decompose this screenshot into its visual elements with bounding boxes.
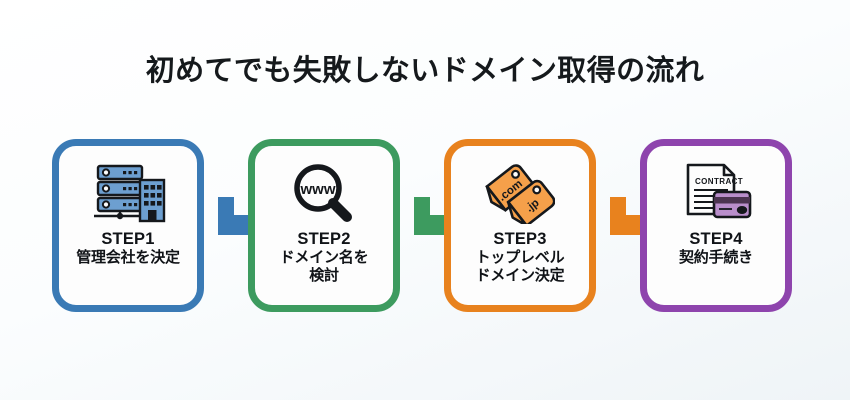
step-desc-2: ドメイン名を 検討 — [280, 249, 369, 286]
domain-tags-icon: .com .jp — [451, 160, 589, 226]
magnifier-www-icon: www — [255, 160, 393, 226]
server-building-icon — [59, 160, 197, 226]
step-desc-line: トップレベル — [476, 249, 565, 267]
step-desc-4: 契約手続き — [679, 249, 753, 267]
step-label-1: STEP1 — [76, 229, 180, 249]
page-title: 初めてでも失敗しないドメイン取得の流れ — [0, 47, 850, 89]
step-card-3[interactable]: .com .jp STEP3 トップレベル — [444, 139, 596, 312]
step-desc-3: トップレベル ドメイン決定 — [476, 249, 565, 286]
step-card-2[interactable]: www STEP2 ドメイン名を 検討 — [248, 139, 400, 312]
step-desc-line: 契約手続き — [679, 249, 753, 267]
step-card-1[interactable]: STEP1 管理会社を決定 — [52, 139, 204, 312]
process-flow: STEP1 管理会社を決定 www — [52, 139, 800, 314]
step-label-4: STEP4 — [679, 229, 753, 249]
step-desc-line: 管理会社を決定 — [76, 249, 180, 267]
step-label-3: STEP3 — [476, 229, 565, 249]
step-desc-line: ドメイン決定 — [476, 267, 565, 285]
contract-creditcard-icon: CONTRACT — [647, 160, 785, 226]
magnifier-www-text: www — [299, 181, 335, 198]
contract-document-label: CONTRACT — [695, 177, 743, 186]
step-desc-line: 検討 — [280, 267, 369, 285]
infographic-canvas: 初めてでも失敗しないドメイン取得の流れ — [0, 0, 850, 400]
step-label-2: STEP2 — [280, 229, 369, 249]
step-card-4[interactable]: CONTRACT STEP4 契約手続き — [640, 139, 792, 312]
step-desc-line: ドメイン名を — [280, 249, 369, 267]
step-desc-1: 管理会社を決定 — [76, 249, 180, 267]
